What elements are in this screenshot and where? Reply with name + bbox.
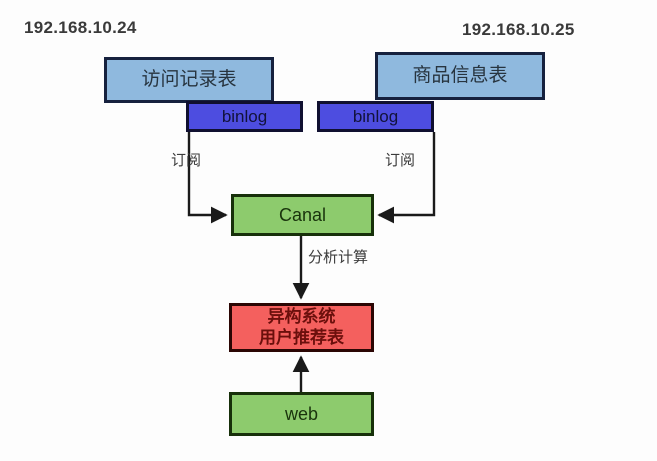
node-binlog-left-label: binlog: [222, 107, 267, 127]
node-heterogeneous-system-label-line2: 用户推荐表: [259, 328, 344, 348]
edge-label-subscribe-left: 订阅: [171, 149, 201, 170]
node-canal[interactable]: Canal: [231, 194, 374, 236]
node-visit-record-table-label: 访问记录表: [141, 69, 236, 91]
node-heterogeneous-system[interactable]: 异构系统 用户推荐表: [229, 303, 374, 352]
edge-label-analyze-compute: 分析计算: [308, 246, 368, 267]
node-web-label: web: [285, 404, 318, 425]
host-ip-left: 192.168.10.24: [24, 18, 137, 38]
node-binlog-left[interactable]: binlog: [186, 101, 303, 132]
node-binlog-right[interactable]: binlog: [317, 101, 434, 132]
node-canal-label: Canal: [279, 205, 326, 226]
node-web[interactable]: web: [229, 392, 374, 436]
edge-label-subscribe-right: 订阅: [385, 149, 415, 170]
host-ip-right: 192.168.10.25: [462, 20, 575, 40]
edge-subscribe-right: [379, 132, 434, 215]
node-visit-record-table[interactable]: 访问记录表: [104, 57, 274, 103]
edge-subscribe-left: [189, 132, 226, 215]
node-heterogeneous-system-label-line1: 异构系统: [268, 307, 336, 327]
node-binlog-right-label: binlog: [353, 107, 398, 127]
node-product-info-table-label: 商品信息表: [412, 65, 507, 87]
node-product-info-table[interactable]: 商品信息表: [375, 52, 545, 100]
diagram-canvas: 192.168.10.24 192.168.10.25 访问记录表 商品信息表 …: [0, 0, 657, 461]
